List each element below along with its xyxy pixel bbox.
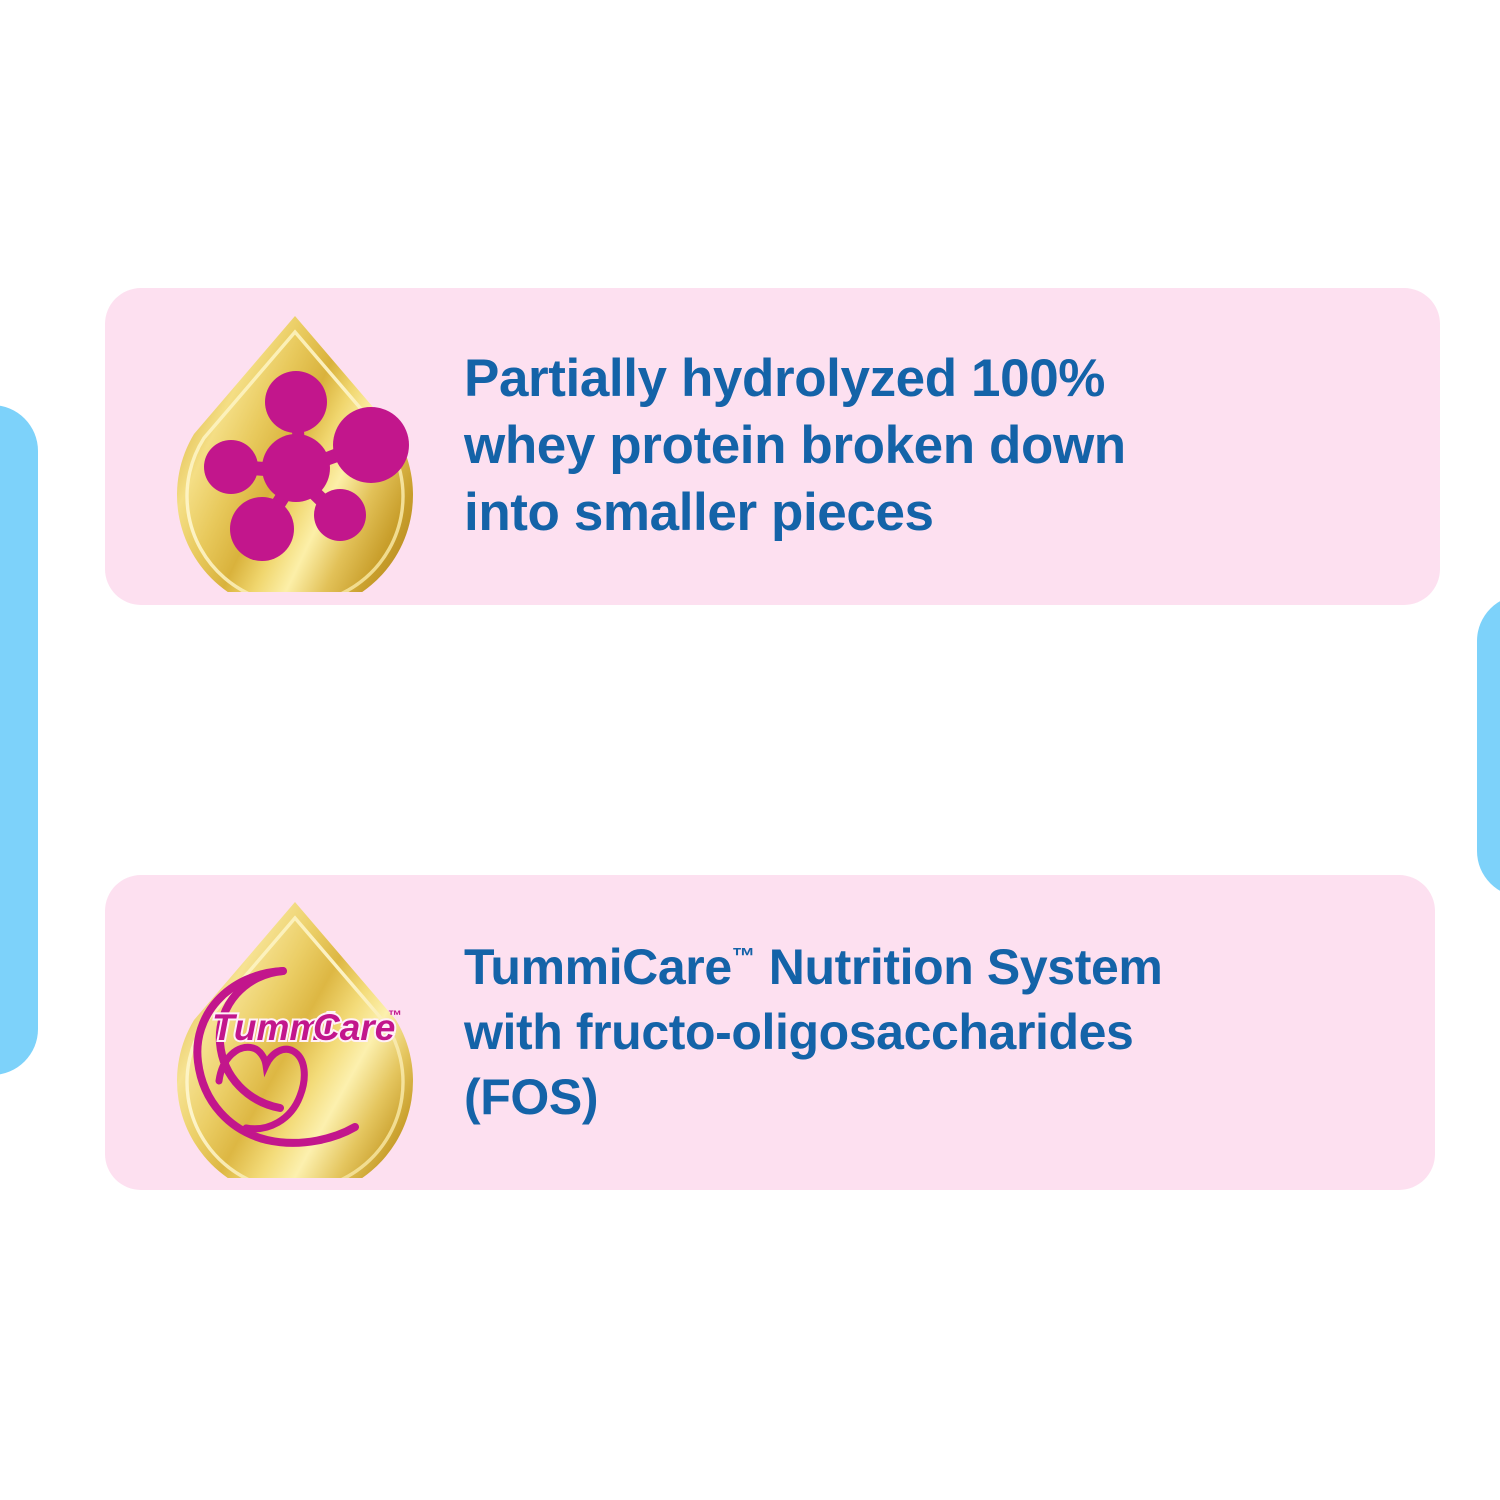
left-blue-bar [0,405,38,1075]
trademark-icon: ™ [732,943,756,969]
page-root: Partially hydrolyzed 100% whey protein b… [0,0,1500,1500]
benefit-card-hydrolyzed-whey: Partially hydrolyzed 100% whey protein b… [105,288,1440,605]
benefit-card-tummicare: Tummi Tummi Care Care ™ TummiCare™ Nutri… [105,875,1435,1190]
benefit-text-hydrolyzed-whey: Partially hydrolyzed 100% whey protein b… [464,346,1126,546]
tummicare-brand-name: TummiCare [464,939,732,995]
tummicare-droplet-icon: Tummi Tummi Care Care ™ [150,888,440,1178]
right-blue-bar [1477,595,1500,897]
molecule-droplet-icon [150,302,440,592]
benefit-text-tummicare: TummiCare™ Nutrition System with fructo-… [464,935,1162,1130]
